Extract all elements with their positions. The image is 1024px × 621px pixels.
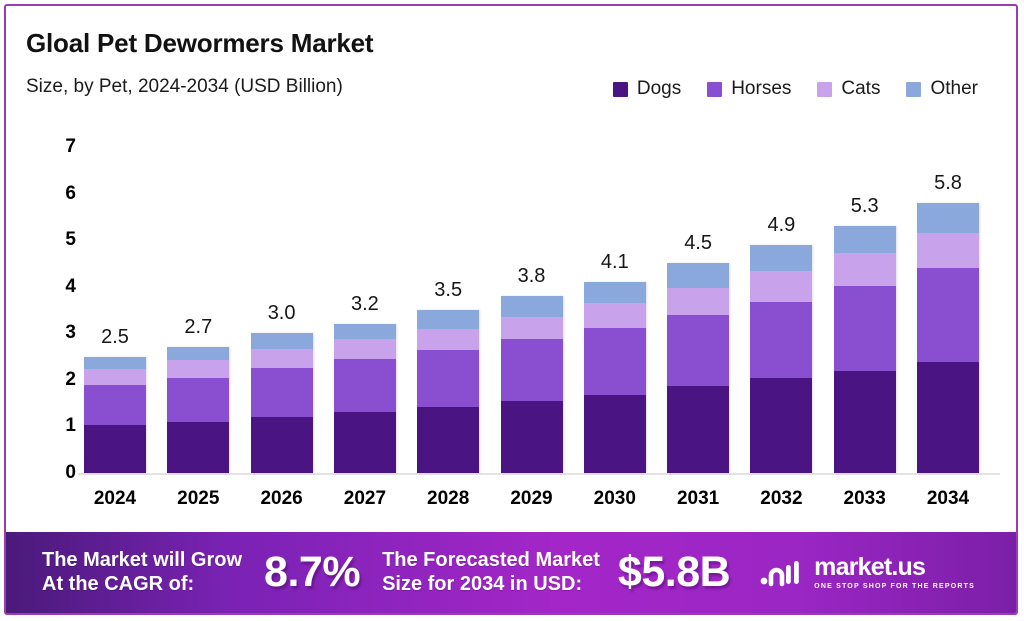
bar-segment-horses[interactable]: [834, 286, 896, 370]
bar-value-label: 3.8: [518, 265, 546, 288]
bar-segment-other[interactable]: [334, 324, 396, 339]
infographic-card: Gloal Pet Dewormers Market Size, by Pet,…: [4, 4, 1018, 615]
y-axis-tick-0: 0: [40, 462, 76, 484]
bar-segment-dogs[interactable]: [834, 371, 896, 473]
legend-item-dogs[interactable]: Dogs: [613, 78, 681, 100]
legend-swatch-icon: [613, 82, 628, 97]
bar-segment-dogs[interactable]: [84, 425, 146, 473]
bar-segment-other[interactable]: [84, 357, 146, 370]
bar-segment-dogs[interactable]: [167, 422, 229, 473]
y-axis-tick-1: 1: [40, 415, 76, 437]
brand-tagline: ONE STOP SHOP FOR THE REPORTS: [814, 583, 975, 590]
brand-logo: market.us ONE STOP SHOP FOR THE REPORTS: [760, 555, 975, 590]
legend-label: Dogs: [637, 78, 681, 100]
bar-segment-cats[interactable]: [417, 329, 479, 350]
bar-segment-dogs[interactable]: [501, 401, 563, 473]
bar-segment-horses[interactable]: [251, 368, 313, 417]
bar-group-2028[interactable]: 3.52028: [417, 310, 479, 473]
bar-segment-other[interactable]: [834, 226, 896, 253]
legend-swatch-icon: [906, 82, 921, 97]
x-axis-tick-2030: 2030: [594, 488, 636, 510]
legend-label: Horses: [731, 78, 791, 100]
bar-segment-other[interactable]: [584, 282, 646, 303]
bar-value-label: 4.5: [684, 232, 712, 255]
y-axis-tick-6: 6: [40, 183, 76, 205]
y-axis: 01234567: [40, 116, 76, 516]
bar-group-2024[interactable]: 2.52024: [84, 357, 146, 473]
bar-segment-other[interactable]: [667, 263, 729, 288]
forecast-size-label: The Forecasted Market Size for 2034 in U…: [382, 549, 600, 596]
legend-swatch-icon: [817, 82, 832, 97]
y-axis-tick-5: 5: [40, 229, 76, 251]
bar-value-label: 3.2: [351, 293, 379, 316]
bar-group-2030[interactable]: 4.12030: [584, 282, 646, 473]
chart-legend: DogsHorsesCatsOther: [613, 78, 978, 100]
bar-segment-cats[interactable]: [251, 349, 313, 368]
stacked-bar[interactable]: [834, 226, 896, 473]
cagr-value: 8.7%: [264, 548, 360, 597]
bar-segment-other[interactable]: [167, 347, 229, 360]
bar-series-container: 2.520242.720253.020263.220273.520283.820…: [84, 116, 1014, 516]
stacked-bar[interactable]: [501, 296, 563, 473]
bar-value-label: 5.8: [934, 172, 962, 195]
y-axis-tick-4: 4: [40, 276, 76, 298]
bar-group-2029[interactable]: 3.82029: [501, 296, 563, 473]
bar-segment-horses[interactable]: [917, 268, 979, 362]
bar-segment-dogs[interactable]: [667, 386, 729, 473]
stacked-bar[interactable]: [417, 310, 479, 473]
x-axis-tick-2031: 2031: [677, 488, 719, 510]
legend-item-horses[interactable]: Horses: [707, 78, 791, 100]
chart-plot-area: 01234567 2.520242.720253.020263.220273.5…: [6, 116, 1016, 516]
x-axis-tick-2028: 2028: [427, 488, 469, 510]
stacked-bar[interactable]: [167, 347, 229, 473]
bar-value-label: 3.5: [434, 279, 462, 302]
cagr-label-line1: The Market will Grow: [42, 549, 242, 573]
bar-segment-horses[interactable]: [584, 328, 646, 395]
bar-segment-other[interactable]: [501, 296, 563, 316]
bar-group-2032[interactable]: 4.92032: [750, 245, 812, 473]
bar-segment-horses[interactable]: [667, 315, 729, 387]
bar-segment-dogs[interactable]: [584, 395, 646, 473]
x-axis-tick-2032: 2032: [760, 488, 802, 510]
bar-segment-horses[interactable]: [750, 302, 812, 379]
market-us-logo-icon: [760, 558, 804, 588]
stacked-bar[interactable]: [750, 245, 812, 473]
y-axis-tick-7: 7: [40, 136, 76, 158]
x-axis-tick-2026: 2026: [260, 488, 302, 510]
bar-value-label: 2.5: [101, 326, 129, 349]
legend-item-cats[interactable]: Cats: [817, 78, 880, 100]
page-title: Gloal Pet Dewormers Market: [26, 28, 373, 59]
bar-group-2034[interactable]: 5.82034: [917, 203, 979, 473]
legend-item-other[interactable]: Other: [906, 78, 978, 100]
bar-segment-cats[interactable]: [667, 288, 729, 315]
bar-segment-dogs[interactable]: [334, 412, 396, 473]
cagr-label-line2: At the CAGR of:: [42, 573, 242, 597]
y-axis-tick-3: 3: [40, 322, 76, 344]
bar-segment-dogs[interactable]: [750, 378, 812, 473]
bar-segment-other[interactable]: [917, 203, 979, 233]
bar-segment-dogs[interactable]: [251, 417, 313, 473]
bar-segment-dogs[interactable]: [917, 362, 979, 473]
x-axis-tick-2027: 2027: [344, 488, 386, 510]
stacked-bar[interactable]: [334, 324, 396, 473]
cagr-label: The Market will Grow At the CAGR of:: [42, 549, 242, 596]
x-axis-tick-2024: 2024: [94, 488, 136, 510]
bar-segment-cats[interactable]: [334, 339, 396, 359]
forecast-size-label-line2: Size for 2034 in USD:: [382, 573, 600, 597]
forecast-size-label-line1: The Forecasted Market: [382, 549, 600, 573]
stacked-bar[interactable]: [917, 203, 979, 473]
bar-segment-cats[interactable]: [584, 303, 646, 327]
x-axis-tick-2033: 2033: [844, 488, 886, 510]
bar-segment-other[interactable]: [750, 245, 812, 272]
bar-segment-cats[interactable]: [750, 271, 812, 301]
bar-value-label: 2.7: [184, 316, 212, 339]
bar-segment-horses[interactable]: [84, 385, 146, 426]
stacked-bar[interactable]: [667, 263, 729, 473]
bar-value-label: 3.0: [268, 302, 296, 325]
bar-group-2027[interactable]: 3.22027: [334, 324, 396, 473]
legend-label: Other: [930, 78, 978, 100]
bar-value-label: 5.3: [851, 195, 879, 218]
chart-header: Gloal Pet Dewormers Market Size, by Pet,…: [6, 6, 1016, 116]
bar-segment-horses[interactable]: [417, 350, 479, 407]
stacked-bar[interactable]: [584, 282, 646, 473]
bar-segment-horses[interactable]: [334, 359, 396, 412]
bar-group-2031[interactable]: 4.52031: [667, 263, 729, 473]
forecast-size-value: $5.8B: [618, 548, 730, 597]
bar-segment-horses[interactable]: [501, 339, 563, 400]
bar-segment-cats[interactable]: [84, 369, 146, 384]
bar-group-2025[interactable]: 2.72025: [167, 347, 229, 473]
bar-value-label: 4.1: [601, 251, 629, 274]
stacked-bar[interactable]: [84, 357, 146, 473]
bar-segment-horses[interactable]: [167, 378, 229, 422]
bar-segment-cats[interactable]: [167, 360, 229, 377]
legend-swatch-icon: [707, 82, 722, 97]
x-axis-tick-2029: 2029: [510, 488, 552, 510]
brand-name: market.us: [814, 555, 975, 580]
legend-label: Cats: [841, 78, 880, 100]
bar-segment-cats[interactable]: [917, 233, 979, 268]
chart-subtitle: Size, by Pet, 2024-2034 (USD Billion): [26, 76, 343, 98]
brand-text: market.us ONE STOP SHOP FOR THE REPORTS: [814, 555, 975, 590]
bar-value-label: 4.9: [767, 214, 795, 237]
x-axis-tick-2025: 2025: [177, 488, 219, 510]
bar-group-2026[interactable]: 3.02026: [251, 333, 313, 473]
bar-segment-cats[interactable]: [501, 317, 563, 340]
bar-segment-dogs[interactable]: [417, 407, 479, 473]
bar-segment-other[interactable]: [417, 310, 479, 329]
y-axis-tick-2: 2: [40, 369, 76, 391]
summary-footer: The Market will Grow At the CAGR of: 8.7…: [6, 532, 1016, 613]
stacked-bar[interactable]: [251, 333, 313, 473]
bar-segment-cats[interactable]: [834, 253, 896, 286]
bar-segment-other[interactable]: [251, 333, 313, 349]
bar-group-2033[interactable]: 5.32033: [834, 226, 896, 473]
x-axis-tick-2034: 2034: [927, 488, 969, 510]
